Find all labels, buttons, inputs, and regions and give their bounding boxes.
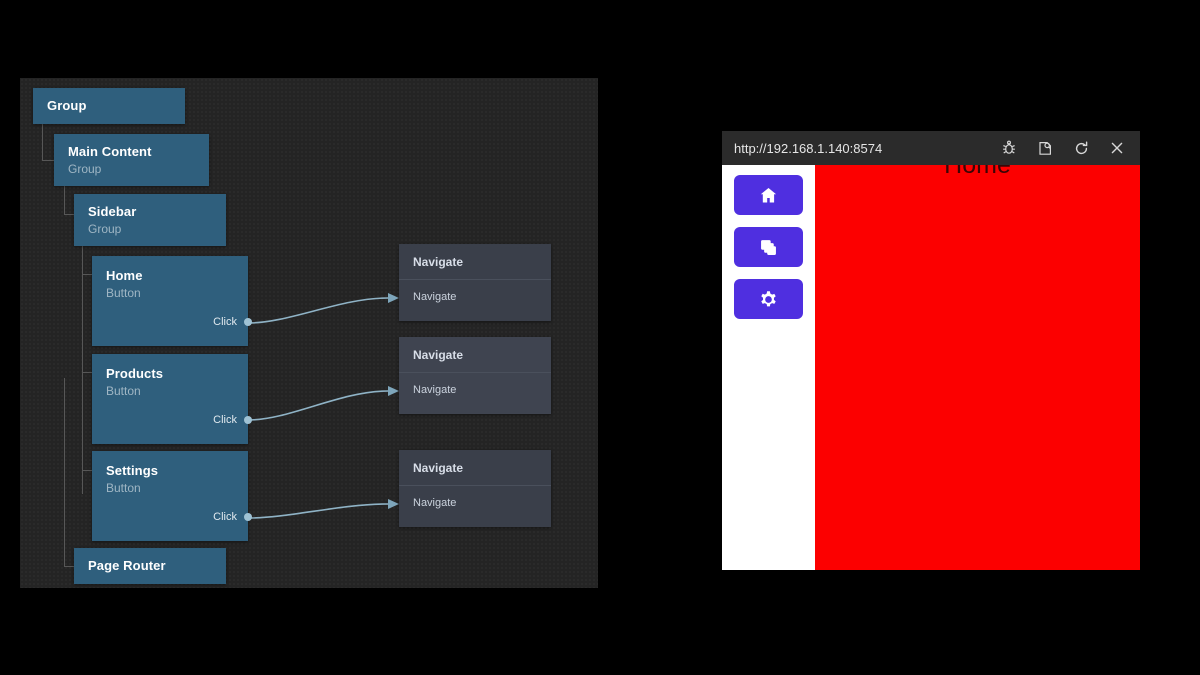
node-title: Navigate — [399, 450, 551, 485]
node-subtitle: Button — [106, 385, 234, 397]
debug-icon[interactable] — [996, 135, 1022, 161]
node-editor-canvas[interactable]: Group Main Content Group Sidebar Group H… — [20, 78, 598, 588]
sidebar-button-home[interactable] — [734, 175, 803, 215]
app-viewport: Home — [722, 165, 1140, 570]
node-subtitle: Button — [106, 287, 234, 299]
screen: Group Main Content Group Sidebar Group H… — [0, 0, 1200, 675]
tree-connector — [82, 372, 92, 373]
node-title: Main Content — [68, 145, 195, 158]
node-home-button[interactable]: Home Button Click — [92, 256, 248, 346]
port-dot-icon[interactable] — [244, 416, 252, 424]
node-title: Group — [47, 99, 171, 112]
node-title: Navigate — [399, 337, 551, 372]
input-port-navigate[interactable]: Navigate — [399, 280, 551, 315]
port-label: Click — [213, 316, 237, 328]
tree-connector — [82, 470, 92, 471]
node-navigate-1[interactable]: Navigate Navigate — [399, 244, 551, 321]
tree-connector — [82, 214, 83, 494]
input-port-navigate[interactable]: Navigate — [399, 486, 551, 521]
page-title: Home — [815, 165, 1140, 180]
port-label: Click — [213, 511, 237, 523]
node-title: Navigate — [399, 244, 551, 279]
node-settings-button[interactable]: Settings Button Click — [92, 451, 248, 541]
node-title: Products — [106, 367, 234, 380]
sidebar-button-products[interactable] — [734, 227, 803, 267]
app-main-content: Home — [815, 165, 1140, 570]
node-group[interactable]: Group — [33, 88, 185, 124]
sidebar-button-settings[interactable] — [734, 279, 803, 319]
node-navigate-3[interactable]: Navigate Navigate — [399, 450, 551, 527]
output-port-click[interactable]: Click — [213, 511, 248, 523]
home-icon — [758, 185, 779, 206]
url-text[interactable]: http://192.168.1.140:8574 — [734, 141, 986, 156]
node-products-button[interactable]: Products Button Click — [92, 354, 248, 444]
node-subtitle: Button — [106, 482, 234, 494]
port-label: Click — [213, 414, 237, 426]
tree-connector — [82, 274, 92, 275]
port-dot-icon[interactable] — [244, 318, 252, 326]
app-sidebar — [722, 165, 815, 570]
tree-connector — [42, 160, 54, 161]
browser-preview-window[interactable]: http://192.168.1.140:8574 — [722, 131, 1140, 570]
node-page-router[interactable]: Page Router — [74, 548, 226, 584]
node-sidebar[interactable]: Sidebar Group — [74, 194, 226, 246]
input-port-navigate[interactable]: Navigate — [399, 373, 551, 408]
reload-icon[interactable] — [1068, 135, 1094, 161]
port-dot-icon[interactable] — [244, 513, 252, 521]
node-main-content[interactable]: Main Content Group — [54, 134, 209, 186]
output-port-click[interactable]: Click — [213, 414, 248, 426]
node-subtitle: Group — [68, 163, 195, 175]
inspect-icon[interactable] — [1032, 135, 1058, 161]
close-icon[interactable] — [1104, 135, 1130, 161]
output-port-click[interactable]: Click — [213, 316, 248, 328]
node-title: Sidebar — [88, 205, 212, 218]
tree-connector — [64, 378, 65, 566]
node-title: Settings — [106, 464, 234, 477]
node-title: Page Router — [88, 559, 212, 572]
node-navigate-2[interactable]: Navigate Navigate — [399, 337, 551, 414]
node-subtitle: Group — [88, 223, 212, 235]
node-title: Home — [106, 269, 234, 282]
browser-titlebar: http://192.168.1.140:8574 — [722, 131, 1140, 165]
products-icon — [758, 237, 779, 258]
settings-icon — [758, 289, 779, 310]
